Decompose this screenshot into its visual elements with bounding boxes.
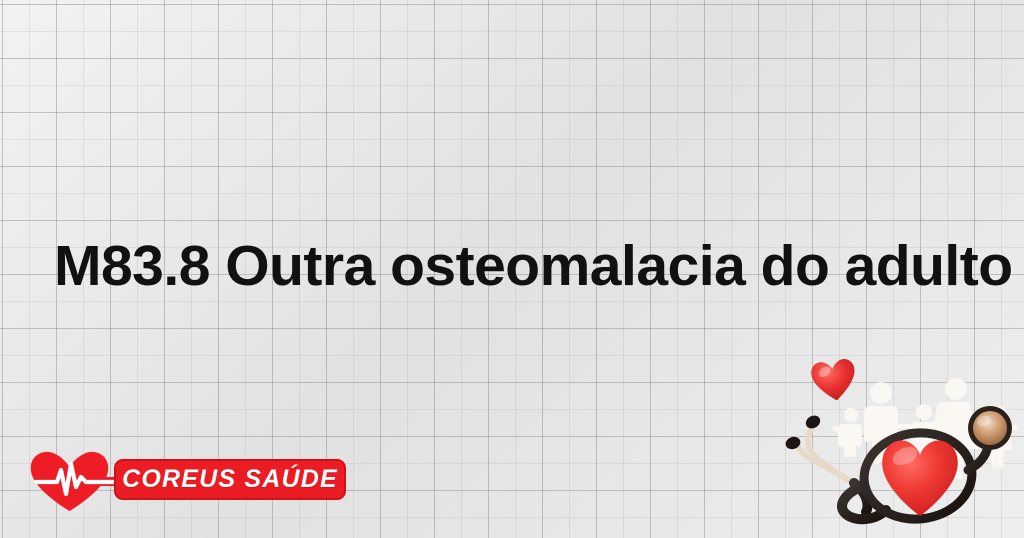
brand-logo[interactable]: COREUS SAÚDE <box>28 447 358 515</box>
page-title-text: M83.8 Outra osteomalacia do adulto <box>54 238 1013 295</box>
slide-canvas: M83.8 Outra osteomalacia do adulto COREU… <box>0 0 1024 538</box>
page-title: M83.8 Outra osteomalacia do adulto <box>54 234 994 298</box>
heart-ecg-icon <box>28 449 120 515</box>
family-health-illustration <box>782 352 1018 532</box>
small-heart-icon <box>810 358 859 404</box>
brand-badge[interactable]: COREUS SAÚDE <box>114 459 346 500</box>
brand-name-label: COREUS SAÚDE <box>122 465 338 494</box>
stethoscope-chestpiece <box>968 406 1012 450</box>
